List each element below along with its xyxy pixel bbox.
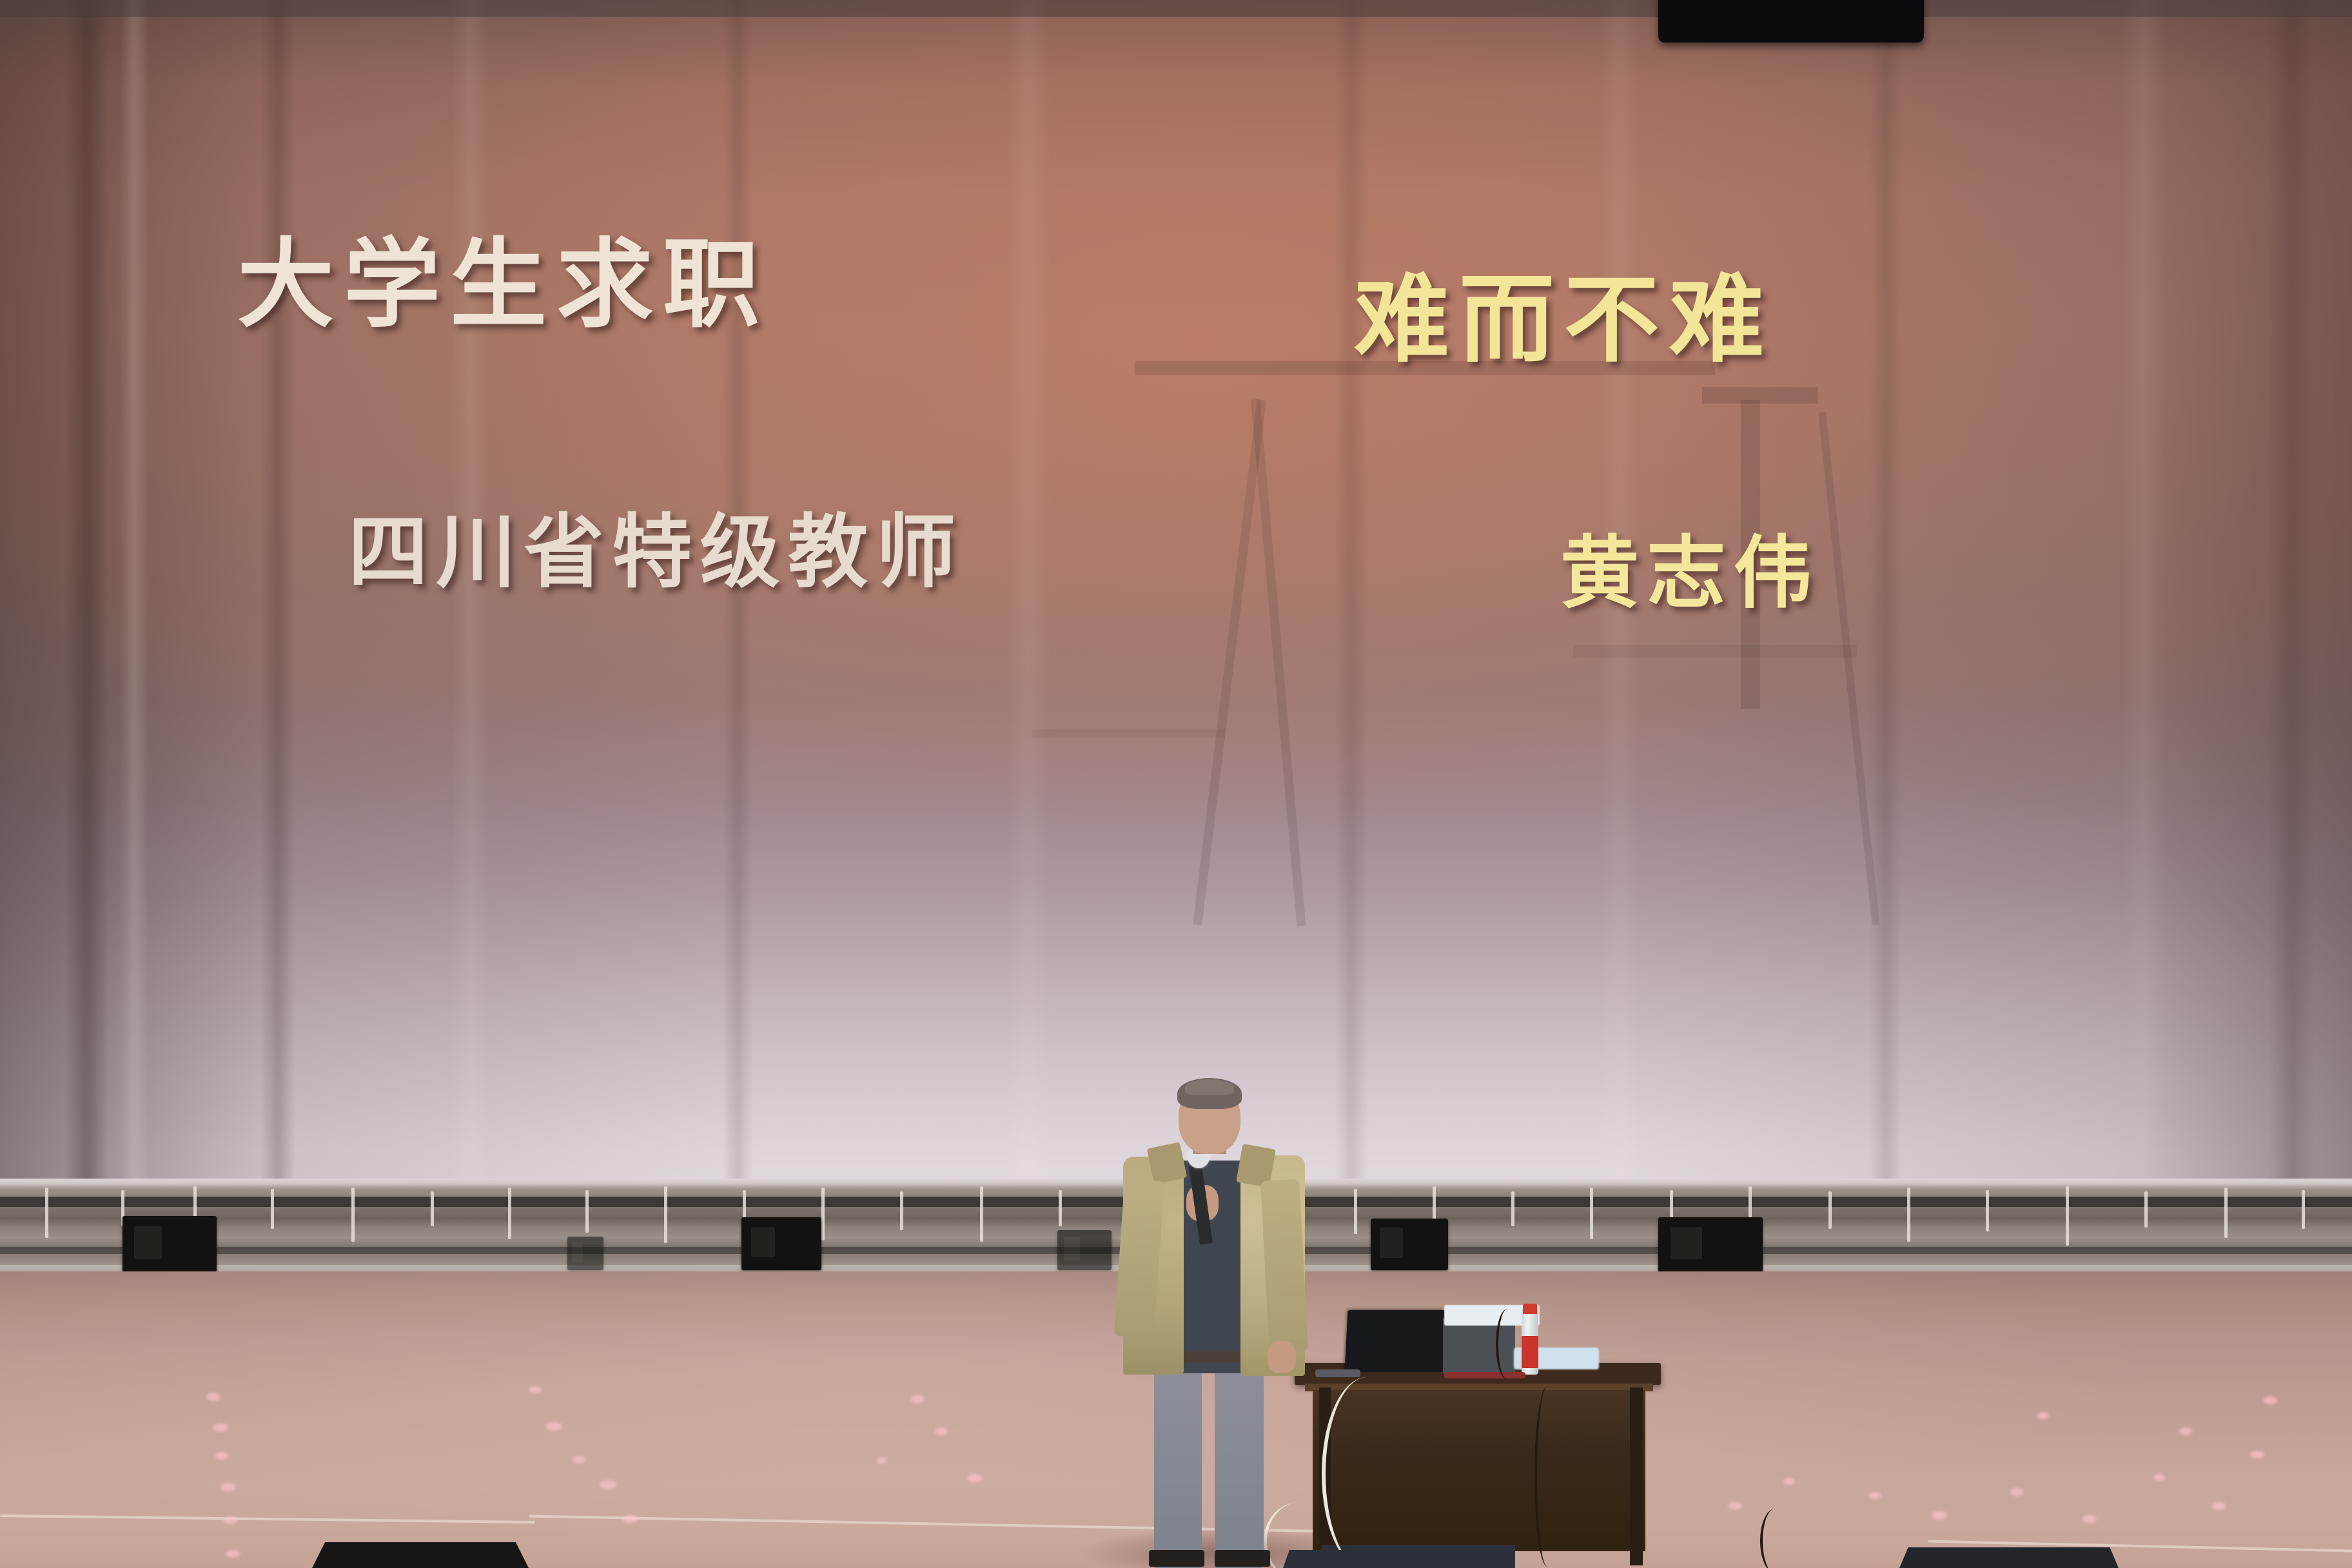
floor-speck [223,1516,237,1524]
slide-title-main: 大学生求职 [237,206,769,346]
slide-subtitle-role: 四川省特级教师 [348,487,964,603]
hanging-string [1059,1190,1062,1226]
floor-speck [2179,1427,2192,1435]
desk-connector-strip [1315,1369,1360,1377]
hanging-speaker [1658,0,1924,43]
hanging-string [2302,1190,2305,1229]
floor-speck [213,1424,228,1432]
hanging-string [2066,1186,2069,1246]
stage-speaker-box [567,1237,603,1270]
presenter-hair-highlight [1185,1079,1234,1095]
hanging-string [508,1188,511,1239]
floor-speck [226,1550,240,1558]
stage-speaker-box [1658,1217,1763,1273]
hanging-string [45,1188,48,1238]
floor-speck [2037,1412,2049,1419]
hanging-string [980,1186,983,1242]
signal-cable [1496,1309,1519,1380]
presenter-shoe-right [1215,1550,1270,1567]
floor-speck [1932,1511,1947,1520]
hanging-string [585,1190,589,1233]
hanging-string [351,1188,355,1242]
hanging-string [1907,1188,1910,1242]
slide-subtitle-name: 黄志伟 [1560,509,1820,623]
hanging-string [821,1188,825,1240]
hanging-string [271,1189,274,1229]
floor-speck [967,1474,983,1482]
floor-speck [2263,1396,2277,1404]
floor-speck [2010,1488,2023,1496]
hanging-string [2224,1188,2228,1238]
floor-speck [1783,1478,1795,1485]
floor-speck [215,1452,228,1460]
floor-speck [529,1386,542,1393]
presenter-leg-right [1215,1360,1264,1568]
hanging-string [2144,1191,2148,1228]
floor-speck [1728,1502,1742,1510]
presenter-collar-left [1147,1142,1188,1184]
floor-speck [935,1427,948,1435]
hanging-string [1828,1191,1832,1229]
signal-cable [1760,1509,1790,1568]
presenter-leg-left [1154,1360,1202,1568]
floor-speck [573,1456,585,1464]
ceiling-strip [0,0,2352,17]
floor-speck [206,1393,220,1401]
projection-screen [0,0,2352,1212]
floor-monitor-left [312,1542,529,1568]
bottle-label [1522,1336,1538,1368]
lecture-hall-scene: 大学生求职 难而不难 四川省特级教师 黄志伟 [0,0,2352,1568]
stage-speaker-box [122,1216,217,1273]
lecture-desk-leg [1630,1387,1643,1565]
hanging-string [431,1191,434,1226]
floor-speck [1868,1492,1881,1499]
hanging-string [1511,1191,1514,1226]
floor-monitor-mid [1283,1550,1496,1568]
stage-speaker-box [1057,1230,1112,1270]
laptop-lid [1344,1310,1445,1372]
slide-title-accent: 难而不难 [1354,242,1774,380]
presenter-hand-right [1268,1341,1296,1373]
floor-speck [877,1457,887,1464]
hanging-string [1354,1189,1357,1234]
hanging-string [1590,1188,1593,1239]
stage-speaker-box [741,1217,821,1270]
hanging-string [900,1191,903,1230]
floor-speck [2082,1515,2097,1523]
floor-monitor-right [1899,1547,2119,1568]
floor-speck [220,1483,236,1491]
signal-cable [1534,1386,1560,1567]
bottle-cap [1523,1304,1537,1314]
floor-speck [910,1395,925,1403]
presenter-shoe-left [1149,1550,1204,1567]
floor-speck [623,1515,638,1523]
hanging-string [664,1186,667,1243]
hanging-string [1986,1190,1989,1231]
floor-speck [600,1480,616,1489]
floor-speck [2250,1451,2264,1458]
stage-speaker-box [1371,1219,1448,1270]
floor-speck [545,1422,562,1431]
floor-speck [2211,1502,2226,1510]
floor-speck [2153,1474,2165,1481]
